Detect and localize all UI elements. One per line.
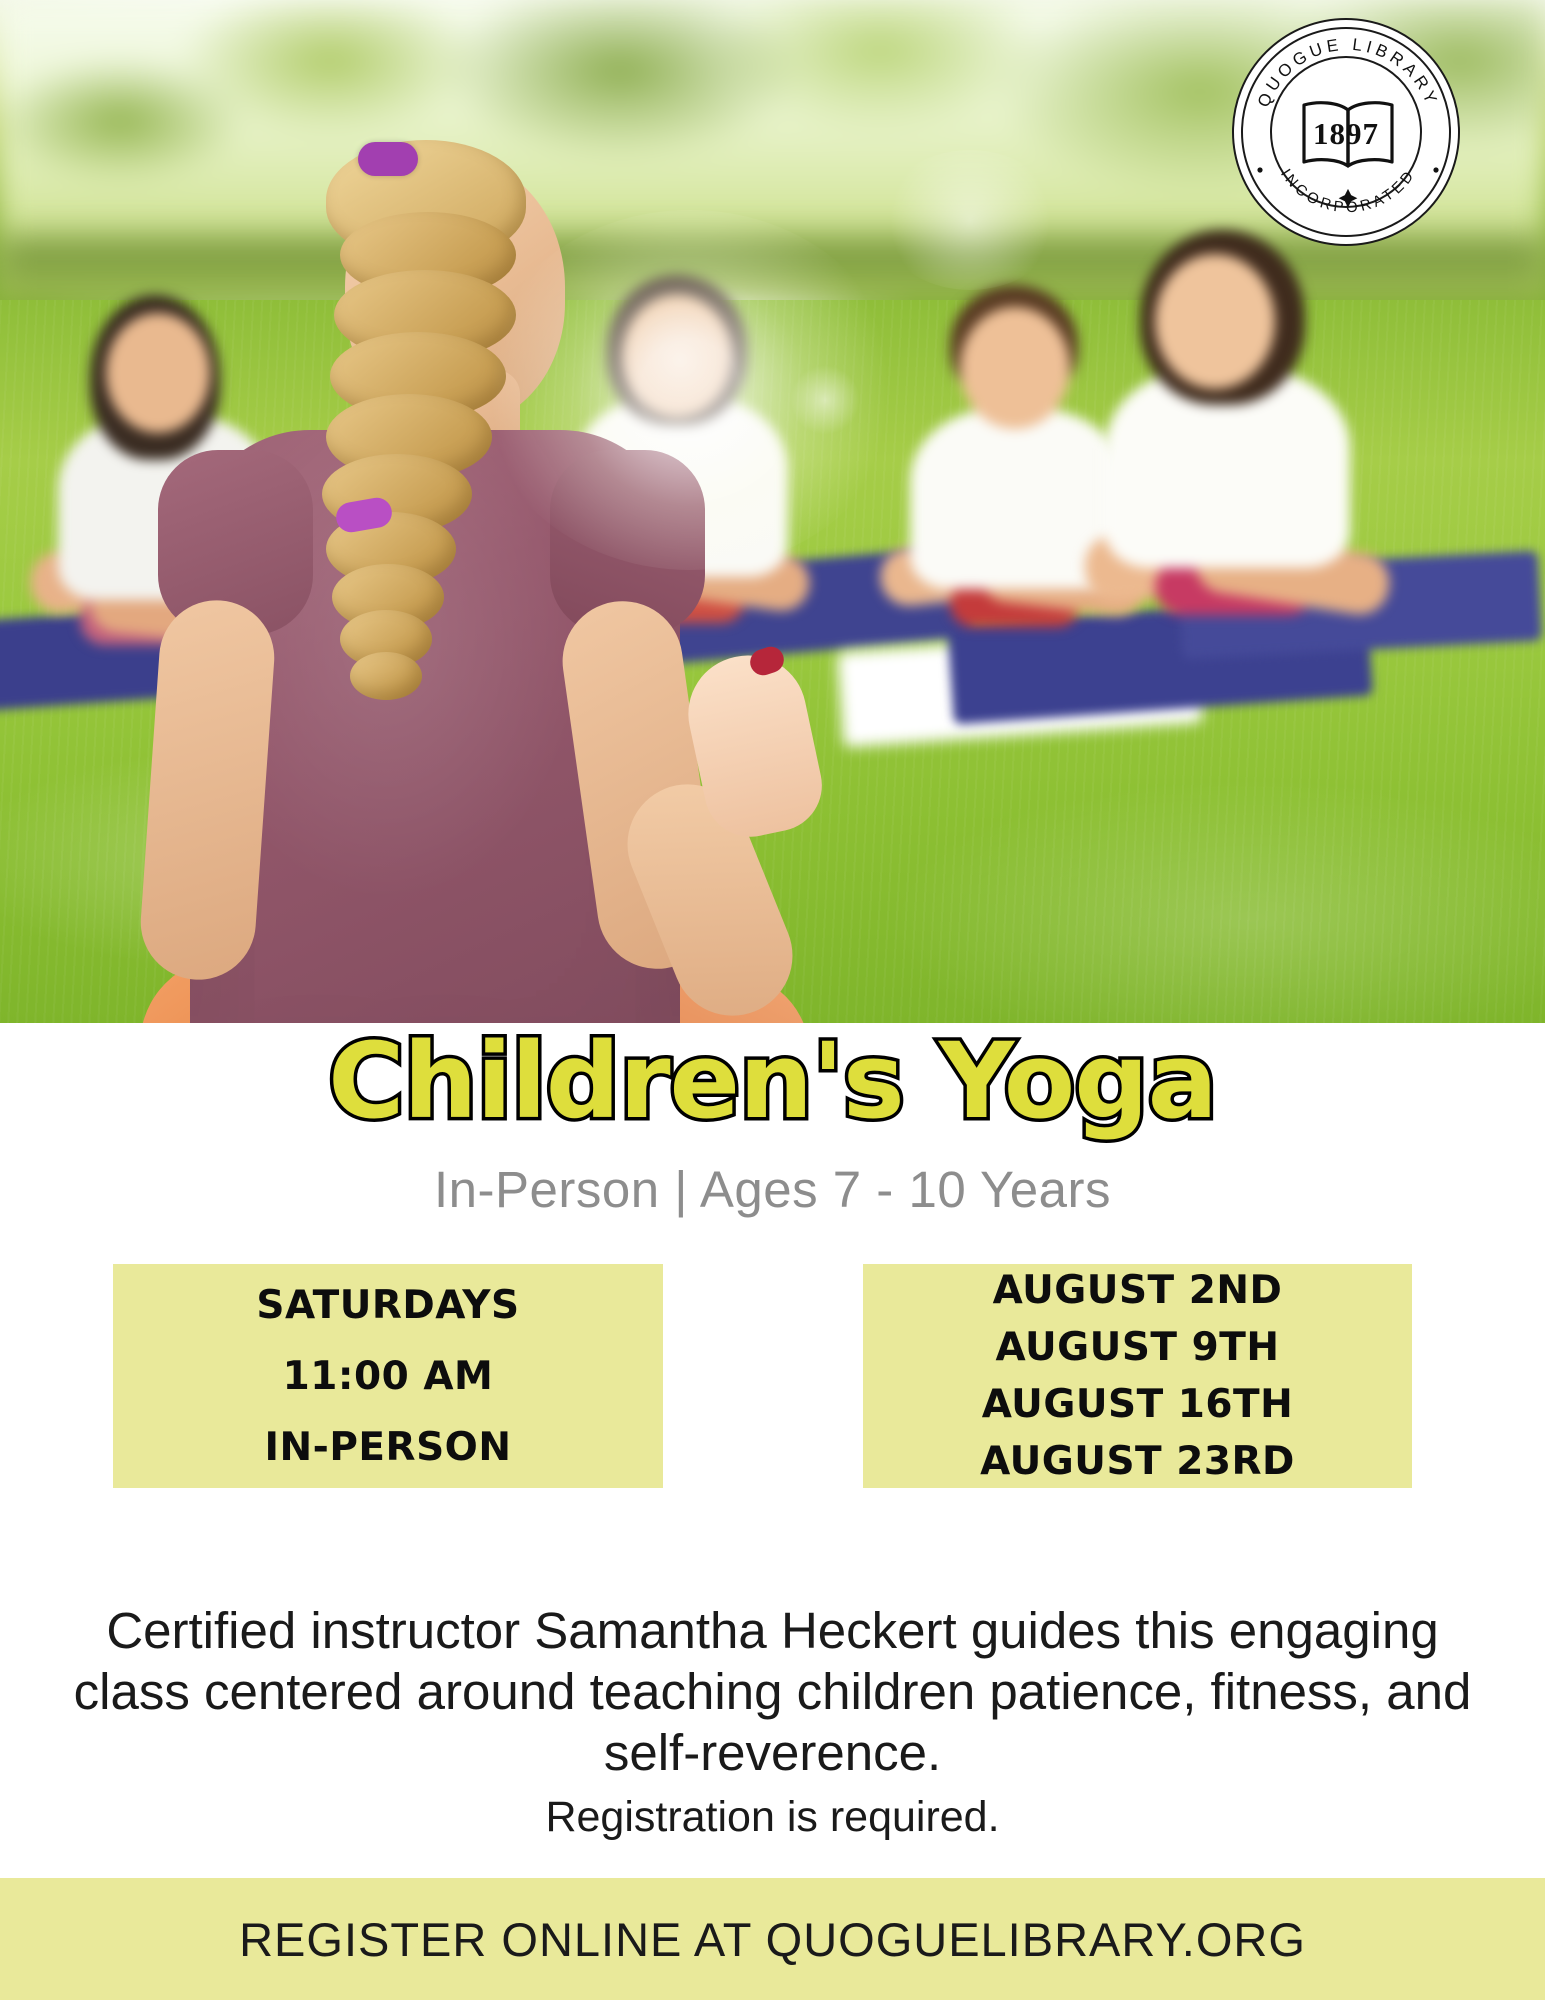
page-subtitle: In-Person | Ages 7 - 10 Years: [0, 1160, 1545, 1219]
date-line: AUGUST 9TH: [996, 1328, 1280, 1367]
date-line: AUGUST 2ND: [993, 1271, 1283, 1310]
braided-ponytail: [300, 140, 540, 700]
child-participant: [1085, 230, 1415, 700]
dates-box: AUGUST 2ND AUGUST 9TH AUGUST 16TH AUGUST…: [863, 1264, 1412, 1488]
date-line: AUGUST 23RD: [980, 1442, 1295, 1481]
registration-note: Registration is required.: [70, 1793, 1475, 1842]
quogue-library-seal: QUOGUE LIBRARY INCORPORATED 1897: [1232, 18, 1460, 246]
yoga-instructor: [150, 100, 770, 1023]
hair-tie: [358, 142, 418, 176]
schedule-line-day: SATURDAYS: [256, 1286, 519, 1325]
date-line: AUGUST 16TH: [982, 1385, 1294, 1424]
poster: QUOGUE LIBRARY INCORPORATED 1897 Childre…: [0, 0, 1545, 2000]
description-text: Certified instructor Samantha Heckert gu…: [70, 1600, 1475, 1784]
register-url-text[interactable]: REGISTER ONLINE AT QUOGUELIBRARY.ORG: [239, 1912, 1306, 1967]
footer-bar: REGISTER ONLINE AT QUOGUELIBRARY.ORG: [0, 1878, 1545, 2000]
schedule-line-format: IN-PERSON: [265, 1428, 512, 1467]
seal-year: 1897: [1234, 116, 1458, 152]
schedule-line-time: 11:00 AM: [283, 1357, 494, 1396]
schedule-box: SATURDAYS 11:00 AM IN-PERSON: [113, 1264, 663, 1488]
page-title: Children's Yoga: [0, 1028, 1545, 1134]
